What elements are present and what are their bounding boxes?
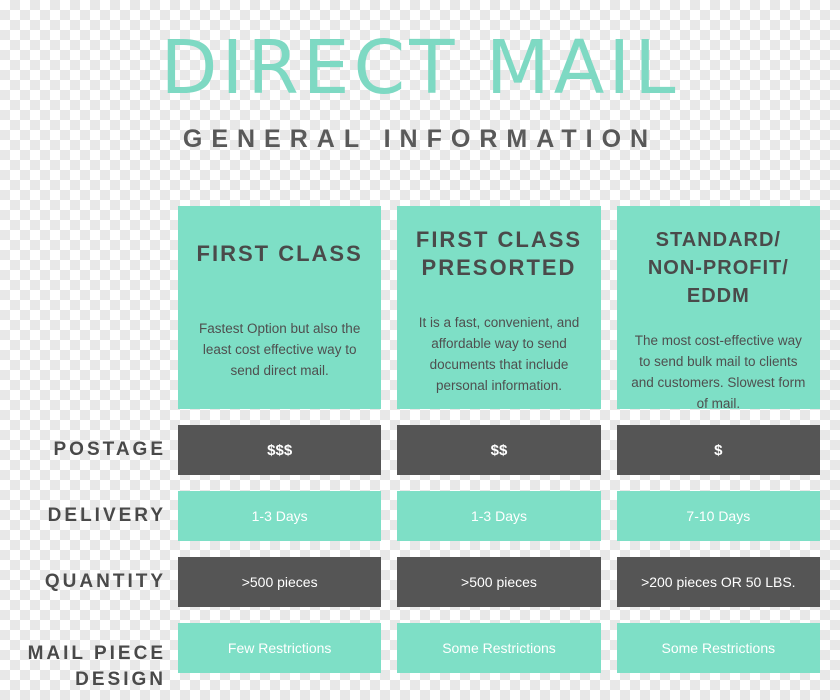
row-label-delivery: DELIVERY [0,491,178,541]
header-cards: FIRST CLASS Fastest Option but also the … [178,206,840,409]
table-row: QUANTITY >500 pieces >500 pieces >200 pi… [0,557,840,607]
column-card-first-class-presorted: FIRST CLASS PRESORTED It is a fast, conv… [397,206,600,409]
column-description: Fastest Option but also the least cost e… [192,318,367,381]
table-header-row: FIRST CLASS Fastest Option but also the … [0,206,840,409]
comparison-table: FIRST CLASS Fastest Option but also the … [0,206,840,693]
table-cell: >500 pieces [397,557,600,607]
table-cell: Few Restrictions [178,623,381,673]
column-title: FIRST CLASS [197,240,363,268]
row-cells-postage: $$$ $$ $ [178,425,840,475]
header-row-spacer [0,206,178,409]
column-description: It is a fast, convenient, and affordable… [411,312,586,396]
table-cell: 7-10 Days [617,491,820,541]
table-cell: $$$ [178,425,381,475]
row-cells-mail-piece-design: Few Restrictions Some Restrictions Some … [178,623,840,693]
table-row: DELIVERY 1-3 Days 1-3 Days 7-10 Days [0,491,840,541]
page-subtitle: GENERAL INFORMATION [0,124,840,154]
column-card-standard-nonprofit-eddm: STANDARD/ NON-PROFIT/ EDDM The most cost… [617,206,820,409]
row-cells-delivery: 1-3 Days 1-3 Days 7-10 Days [178,491,840,541]
column-card-first-class: FIRST CLASS Fastest Option but also the … [178,206,381,409]
column-title: STANDARD/ NON-PROFIT/ EDDM [631,226,806,310]
row-label-mail-piece-design: MAIL PIECE DESIGN [0,623,178,693]
table-cell: Some Restrictions [617,623,820,673]
row-label-postage: POSTAGE [0,425,178,475]
infographic-root: DIRECT MAIL GENERAL INFORMATION FIRST CL… [0,0,840,700]
table-cell: >500 pieces [178,557,381,607]
column-title: FIRST CLASS PRESORTED [411,226,586,282]
table-cell: Some Restrictions [397,623,600,673]
table-cell: 1-3 Days [397,491,600,541]
table-cell: $ [617,425,820,475]
table-cell: >200 pieces OR 50 LBS. [617,557,820,607]
column-description: The most cost-effective way to send bulk… [631,330,806,414]
title-block: DIRECT MAIL GENERAL INFORMATION [0,28,840,154]
table-cell: 1-3 Days [178,491,381,541]
table-row: MAIL PIECE DESIGN Few Restrictions Some … [0,623,840,693]
row-label-quantity: QUANTITY [0,557,178,607]
row-cells-quantity: >500 pieces >500 pieces >200 pieces OR 5… [178,557,840,607]
table-cell: $$ [397,425,600,475]
page-title: DIRECT MAIL [0,28,840,108]
table-row: POSTAGE $$$ $$ $ [0,425,840,475]
